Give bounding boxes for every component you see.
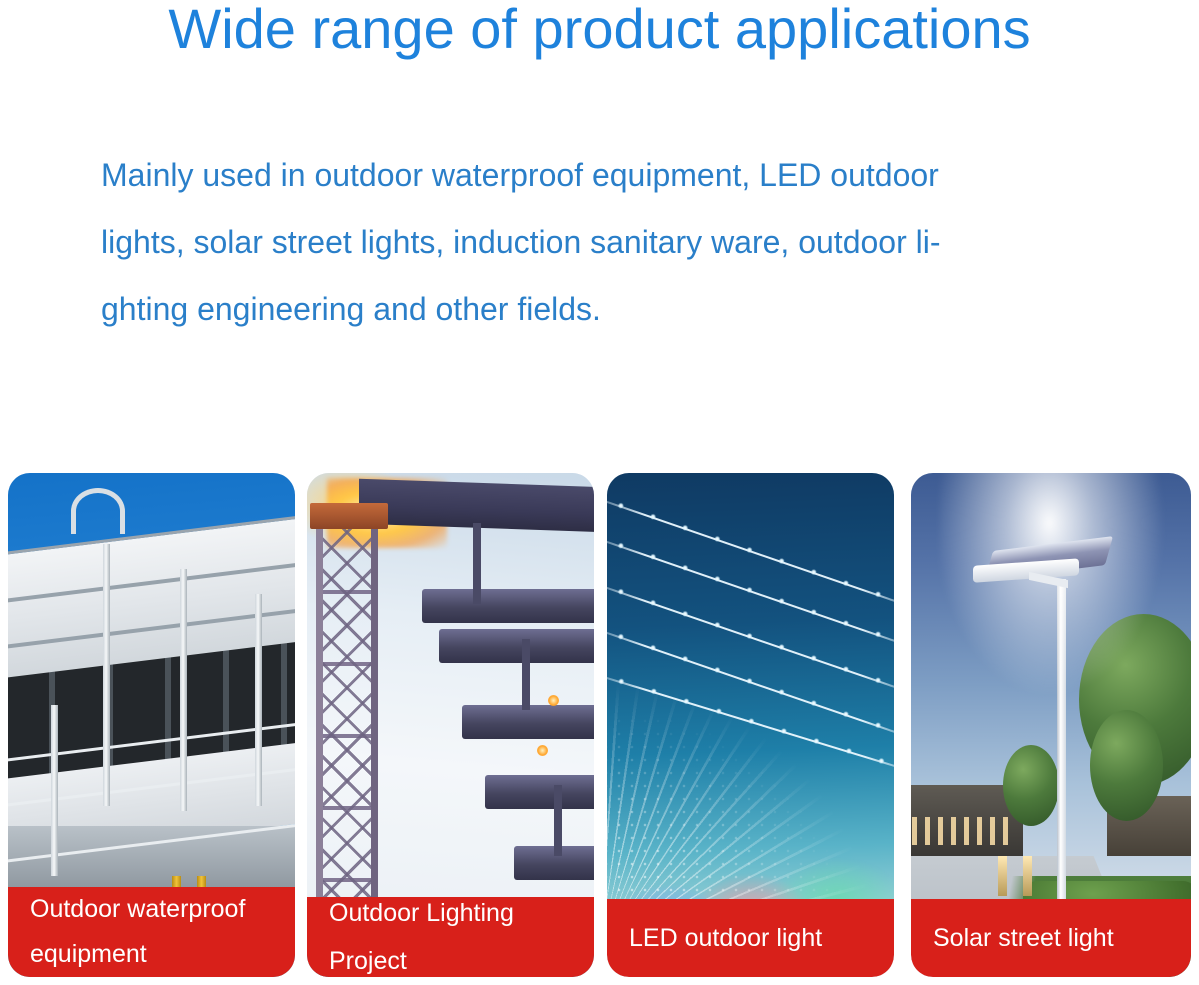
intro-line-1: Mainly used in outdoor waterproof equipm… — [101, 142, 1111, 209]
application-card-led-outdoor-light[interactable]: LED outdoor light — [607, 473, 894, 977]
application-gallery: Outdoor waterproof equipment — [8, 473, 1191, 977]
card-caption: Solar street light — [911, 899, 1191, 977]
card-caption: Outdoor Lighting Project — [307, 897, 594, 977]
card-caption-text: Outdoor waterproof equipment — [30, 887, 273, 977]
product-applications-page: Wide range of product applications Mainl… — [0, 0, 1199, 985]
intro-paragraph: Mainly used in outdoor waterproof equipm… — [101, 142, 1111, 343]
application-card-outdoor-waterproof-equipment[interactable]: Outdoor waterproof equipment — [8, 473, 295, 977]
intro-line-2: lights, solar street lights, induction s… — [101, 209, 1111, 276]
intro-line-3: ghting engineering and other fields. — [101, 276, 1111, 343]
card-caption-text: Outdoor Lighting Project — [329, 889, 572, 977]
card-caption-text: Solar street light — [933, 914, 1114, 962]
application-card-solar-street-light[interactable]: Solar street light — [911, 473, 1191, 977]
card-caption: LED outdoor light — [607, 899, 894, 977]
card-caption-text: LED outdoor light — [629, 914, 822, 962]
card-caption: Outdoor waterproof equipment — [8, 887, 295, 977]
page-title: Wide range of product applications — [0, 0, 1199, 60]
application-card-outdoor-lighting-project[interactable]: Outdoor Lighting Project — [307, 473, 594, 977]
